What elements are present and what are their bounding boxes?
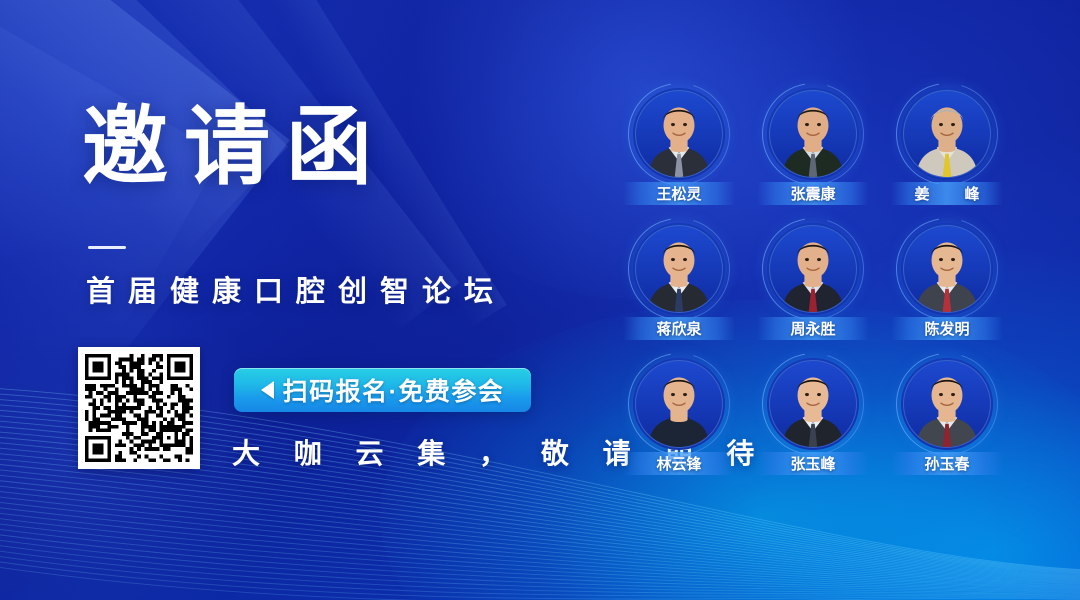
speaker-card[interactable]: 孙玉春	[880, 354, 1014, 489]
speaker-avatar-ring	[633, 223, 725, 315]
speaker-nameplate: 张玉峰	[757, 452, 869, 475]
speaker-avatar-ring	[901, 358, 993, 450]
speaker-card[interactable]: 张玉峰	[746, 354, 880, 489]
speaker-name: 蒋欣泉	[656, 318, 701, 339]
speaker-card[interactable]: 王松灵	[612, 84, 746, 219]
speaker-card[interactable]: 姜 峰	[880, 84, 1014, 219]
speaker-nameplate: 张震康	[757, 182, 869, 205]
speaker-nameplate: 蒋欣泉	[623, 317, 735, 340]
invitation-poster: 邀请函 首届健康口腔创智论坛 扫码报名·免费参会 大 咖 云 集 ， 敬 请 期…	[0, 0, 1080, 600]
speaker-avatar-ring	[901, 223, 993, 315]
title-divider	[88, 246, 126, 249]
speaker-name: 孙玉春	[924, 453, 969, 474]
page-subtitle: 首届健康口腔创智论坛	[86, 268, 506, 310]
avatar	[904, 361, 990, 447]
register-button[interactable]: 扫码报名·免费参会	[234, 368, 531, 412]
speaker-nameplate: 王松灵	[623, 182, 735, 205]
speaker-name: 张震康	[790, 183, 835, 204]
avatar	[904, 91, 990, 177]
register-button-label: 扫码报名·免费参会	[283, 372, 505, 408]
speaker-name: 周永胜	[790, 318, 835, 339]
speaker-nameplate: 姜 峰	[891, 182, 1003, 205]
avatar	[636, 226, 722, 312]
speaker-name: 陈发明	[924, 318, 969, 339]
avatar	[770, 361, 856, 447]
speaker-grid: 王松灵张震康姜 峰蒋欣泉周永胜陈发明林云锋张玉峰孙玉春	[612, 84, 1014, 489]
speaker-nameplate: 孙玉春	[891, 452, 1003, 475]
avatar	[904, 226, 990, 312]
speaker-nameplate: 周永胜	[757, 317, 869, 340]
qr-code[interactable]	[78, 347, 200, 469]
speaker-name: 张玉峰	[790, 453, 835, 474]
speaker-avatar-ring	[633, 88, 725, 180]
page-title: 邀请函	[82, 104, 388, 190]
speaker-avatar-ring	[633, 358, 725, 450]
speaker-card[interactable]: 张震康	[746, 84, 880, 219]
speaker-card[interactable]: 陈发明	[880, 219, 1014, 354]
avatar	[636, 91, 722, 177]
avatar	[770, 91, 856, 177]
speaker-avatar-ring	[901, 88, 993, 180]
triangle-left-icon	[261, 381, 274, 399]
speaker-card[interactable]: 林云锋	[612, 354, 746, 489]
avatar	[636, 361, 722, 447]
speaker-avatar-ring	[767, 223, 859, 315]
avatar	[770, 226, 856, 312]
left-content-column: 邀请函 首届健康口腔创智论坛 扫码报名·免费参会 大 咖 云 集 ， 敬 请 期…	[0, 0, 600, 600]
speaker-avatar-ring	[767, 358, 859, 450]
speaker-nameplate: 陈发明	[891, 317, 1003, 340]
speaker-name: 林云锋	[656, 453, 701, 474]
speaker-name: 王松灵	[656, 183, 701, 204]
speaker-avatar-ring	[767, 88, 859, 180]
speaker-nameplate: 林云锋	[623, 452, 735, 475]
speaker-card[interactable]: 周永胜	[746, 219, 880, 354]
speaker-name: 姜 峰	[904, 183, 989, 204]
speaker-card[interactable]: 蒋欣泉	[612, 219, 746, 354]
